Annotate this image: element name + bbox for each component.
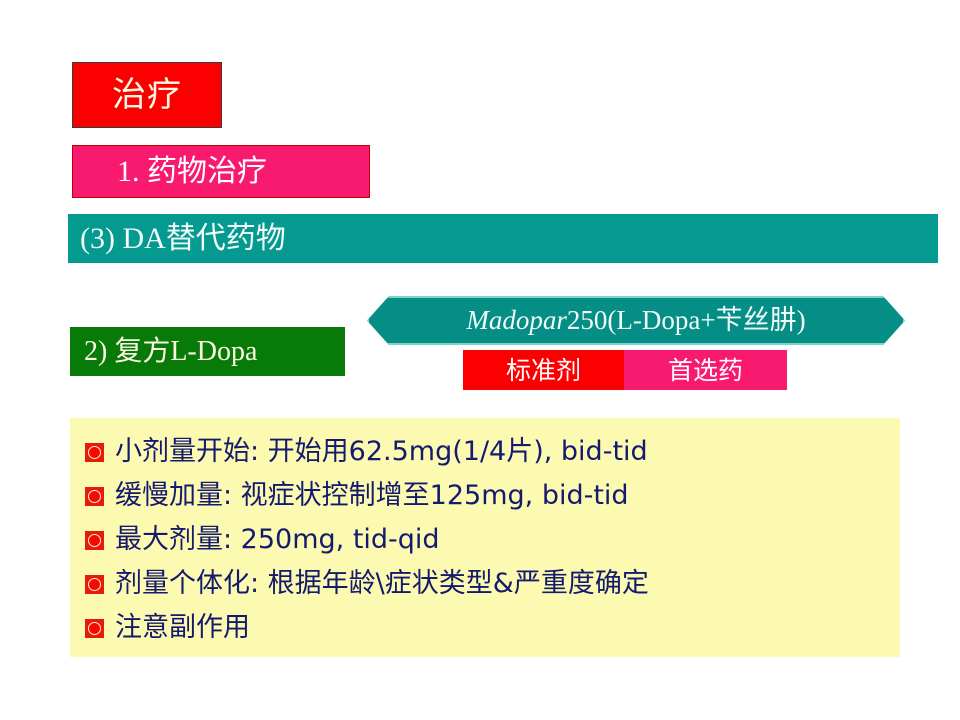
subsection-box: 2) 复方L-Dopa: [70, 327, 345, 376]
tag-row: 标准剂 首选药: [463, 350, 787, 390]
list-item: 注意副作用: [82, 606, 900, 650]
tag-standard-dose: 标准剂: [463, 350, 624, 390]
red-square-bullet-icon: [85, 619, 104, 638]
list-item: 最大剂量: 250mg, tid-qid: [82, 518, 900, 562]
list-item-text: 小剂量开始: 开始用62.5mg(1/4片), bid-tid: [115, 437, 648, 467]
slide-title-box: 治疗: [72, 62, 222, 128]
red-square-bullet-icon: [85, 487, 104, 506]
list-item: 缓慢加量: 视症状控制增至125mg, bid-tid: [82, 474, 900, 518]
list-item-text: 剂量个体化: 根据年龄\症状类型&严重度确定: [115, 569, 649, 599]
subsection-text: 2) 复方L-Dopa: [70, 338, 257, 366]
heading-box: 1. 药物治疗: [72, 145, 370, 198]
list-item-text: 注意副作用: [115, 613, 250, 643]
drug-brand-text: Madopar: [466, 305, 567, 335]
content-panel: 小剂量开始: 开始用62.5mg(1/4片), bid-tid 缓慢加量: 视症…: [70, 418, 900, 657]
slide-canvas: 治疗 1. 药物治疗 (3) DA替代药物 2) 复方L-Dopa Madopa…: [0, 0, 960, 720]
drug-name-text: Madopar250(L-Dopa+苄丝肼): [466, 307, 805, 334]
drug-formula-text: 250(L-Dopa+苄丝肼): [567, 305, 806, 335]
heading-text: 1. 药物治疗: [73, 157, 267, 187]
red-square-bullet-icon: [85, 531, 104, 550]
tag-standard-dose-label: 标准剂: [506, 358, 581, 383]
section-text: (3) DA替代药物: [68, 224, 286, 254]
section-bar: (3) DA替代药物: [68, 214, 938, 263]
red-square-bullet-icon: [85, 575, 104, 594]
drug-name-badge: Madopar250(L-Dopa+苄丝肼): [367, 296, 905, 345]
slide-title-text: 治疗: [112, 78, 182, 112]
red-square-bullet-icon: [85, 443, 104, 462]
list-item-text: 最大剂量: 250mg, tid-qid: [115, 525, 440, 555]
list-item: 小剂量开始: 开始用62.5mg(1/4片), bid-tid: [82, 430, 900, 474]
tag-first-choice-label: 首选药: [668, 358, 743, 383]
tag-first-choice: 首选药: [624, 350, 787, 390]
list-item: 剂量个体化: 根据年龄\症状类型&严重度确定: [82, 562, 900, 606]
list-item-text: 缓慢加量: 视症状控制增至125mg, bid-tid: [115, 481, 629, 511]
